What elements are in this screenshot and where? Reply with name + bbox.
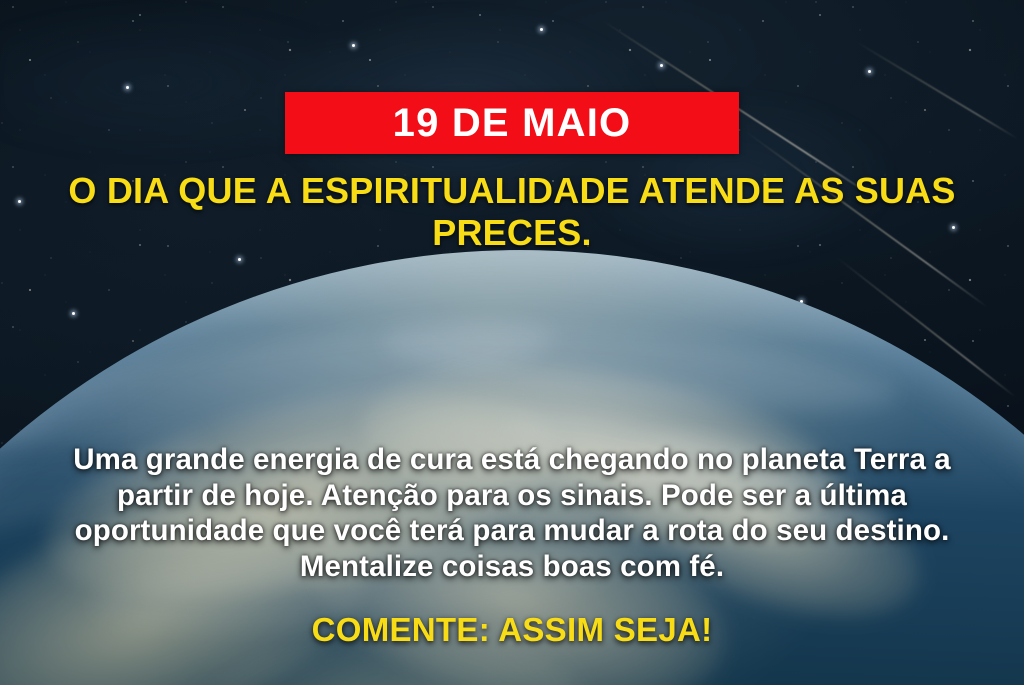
call-to-action-text: COMENTE: ASSIM SEJA! bbox=[62, 611, 962, 649]
date-banner: 19 DE MAIO bbox=[285, 92, 739, 154]
date-banner-text: 19 DE MAIO bbox=[393, 103, 632, 143]
body-paragraph: Uma grande energia de cura está chegando… bbox=[62, 442, 962, 585]
social-media-poster: 19 DE MAIO O DIA QUE A ESPIRITUALIDADE A… bbox=[0, 0, 1024, 685]
headline-text: O DIA QUE A ESPIRITUALIDADE ATENDE AS SU… bbox=[62, 170, 962, 254]
